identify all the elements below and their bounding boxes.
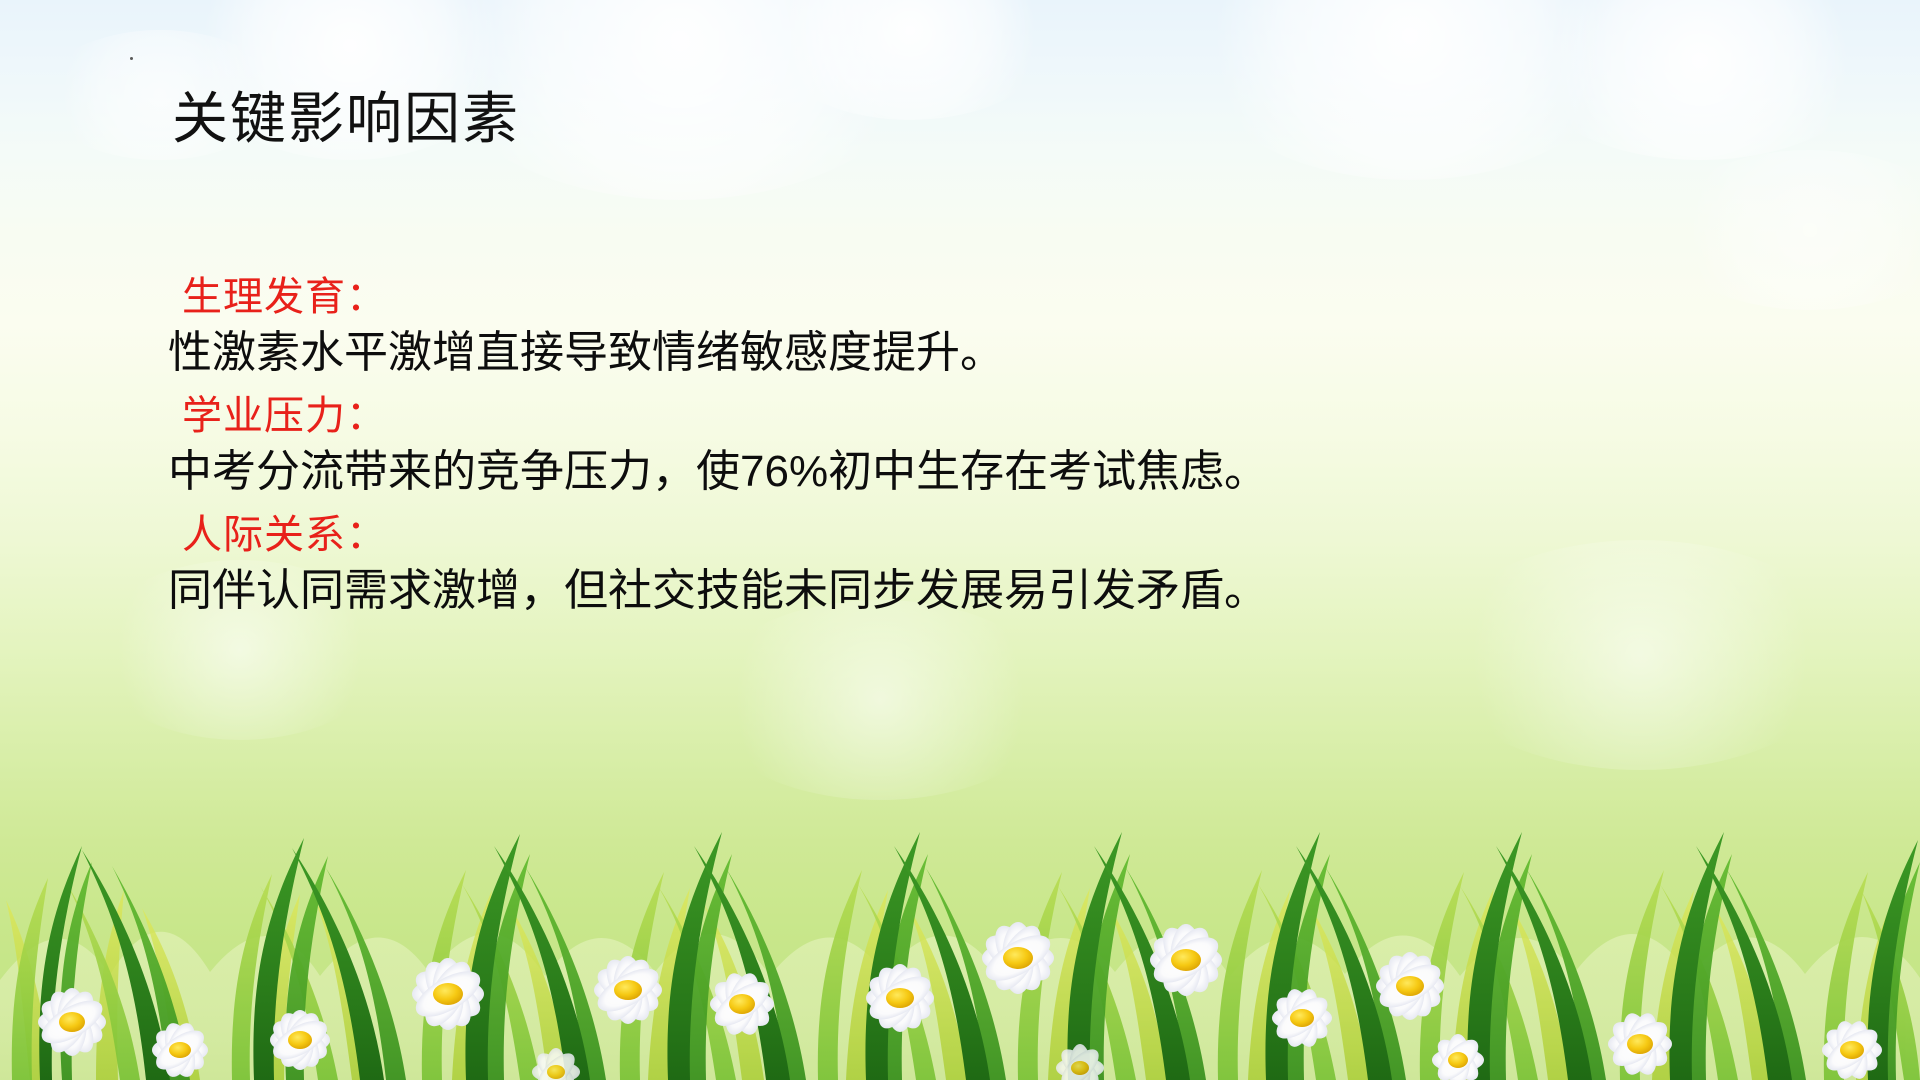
- factor-detail: 中考分流带来的竞争压力，使76%初中生存在考试焦虑。: [168, 443, 1808, 502]
- page-title: 关键影响因素: [172, 88, 520, 150]
- factor-item-interpersonal: 人际关系： 同伴认同需求激增，但社交技能未同步发展易引发矛盾。: [168, 508, 1808, 621]
- factor-heading: 生理发育：: [182, 270, 1808, 324]
- factor-detail: 同伴认同需求激增，但社交技能未同步发展易引发矛盾。: [168, 562, 1808, 621]
- factor-item-physiological: 生理发育： 性激素水平激增直接导致情绪敏感度提升。: [168, 270, 1808, 383]
- stray-dot-artifact: [130, 57, 133, 60]
- factor-item-academic: 学业压力： 中考分流带来的竞争压力，使76%初中生存在考试焦虑。: [168, 389, 1808, 502]
- factor-detail: 性激素水平激增直接导致情绪敏感度提升。: [168, 324, 1808, 383]
- factor-heading: 人际关系：: [182, 508, 1808, 562]
- content-body: 生理发育： 性激素水平激增直接导致情绪敏感度提升。 学业压力： 中考分流带来的竞…: [168, 270, 1808, 627]
- slide-canvas: 关键影响因素 生理发育： 性激素水平激增直接导致情绪敏感度提升。 学业压力： 中…: [0, 0, 1920, 1080]
- factor-heading: 学业压力：: [182, 389, 1808, 443]
